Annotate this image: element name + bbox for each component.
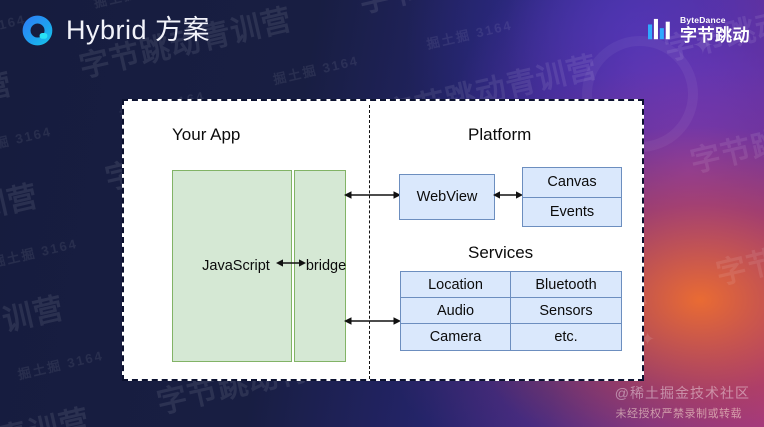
service-label: Bluetooth [535, 277, 596, 293]
watermark-text: 字节跳动青训营 [0, 59, 16, 151]
juejin-lens-icon [21, 14, 54, 47]
brand-name-en: ByteDance [680, 15, 750, 25]
arrow-bridge-webview [344, 188, 401, 202]
box-javascript-label: JavaScript [202, 258, 270, 274]
box-javascript[interactable]: JavaScript [172, 170, 292, 362]
service-cell[interactable]: Location [401, 272, 511, 298]
arrow-bridge-services [344, 314, 401, 328]
box-canvas-label: Canvas [547, 174, 596, 190]
box-canvas[interactable]: Canvas [523, 168, 621, 197]
slide-canvas: 字节跳动青训营 字节跳动青训营 字节跳动青训营 字节跳动青训营 掘土掘 3164… [0, 0, 764, 427]
diagram-card: Your App JavaScript bridge Platform [122, 99, 644, 381]
copyright-notice: 未经授权严禁录制或转载 [616, 405, 743, 421]
page-title: Hybrid 方案 [66, 14, 210, 47]
app-platform-divider [369, 105, 370, 379]
box-events[interactable]: Events [523, 197, 621, 227]
brand-name-cn: 字节跳动 [680, 26, 750, 45]
watermark-small-text: 掘土掘 3164 [16, 345, 106, 383]
box-webview-label: WebView [417, 189, 478, 205]
service-label: etc. [554, 329, 577, 345]
service-label: Camera [430, 329, 482, 345]
box-bridge-label: bridge [306, 258, 346, 274]
community-watermark: @稀土掘金技术社区 [615, 383, 750, 403]
box-events-label: Events [550, 204, 594, 220]
section-label-services: Services [468, 243, 533, 263]
service-cell[interactable]: etc. [511, 324, 621, 350]
service-cell[interactable]: Sensors [511, 298, 621, 324]
slide-header: Hybrid 方案 ByteDance 字节跳动 [0, 0, 764, 60]
stack-canvas-events: Canvas Events [522, 167, 622, 227]
service-label: Location [428, 277, 483, 293]
service-label: Sensors [539, 303, 592, 319]
service-cell[interactable]: Camera [401, 324, 511, 350]
service-cell[interactable]: Audio [401, 298, 511, 324]
watermark-text: 字节跳动青训营 [0, 395, 94, 427]
section-label-your-app: Your App [172, 125, 240, 145]
arrow-webview-canvas [493, 188, 523, 202]
arrow-javascript-bridge [276, 256, 306, 270]
watermark-text: 字节跳动青训营 [711, 201, 764, 293]
services-grid: Location Bluetooth Audio Sensors Camera … [400, 271, 622, 351]
box-webview[interactable]: WebView [399, 174, 495, 220]
service-label: Audio [437, 303, 474, 319]
service-cell[interactable]: Bluetooth [511, 272, 621, 298]
section-label-platform: Platform [468, 125, 531, 145]
brand-text: ByteDance 字节跳动 [680, 15, 750, 45]
watermark-text: 字节跳动青训营 [0, 171, 42, 263]
watermark-small-text: 掘土掘 3164 [0, 121, 54, 159]
watermark-text: 字节跳动青训营 [0, 283, 68, 375]
watermark-small-text: 掘土掘 3164 [0, 233, 79, 271]
bytedance-bars-icon [647, 18, 673, 42]
bytedance-brand-logo: ByteDance 字节跳动 [647, 10, 750, 50]
